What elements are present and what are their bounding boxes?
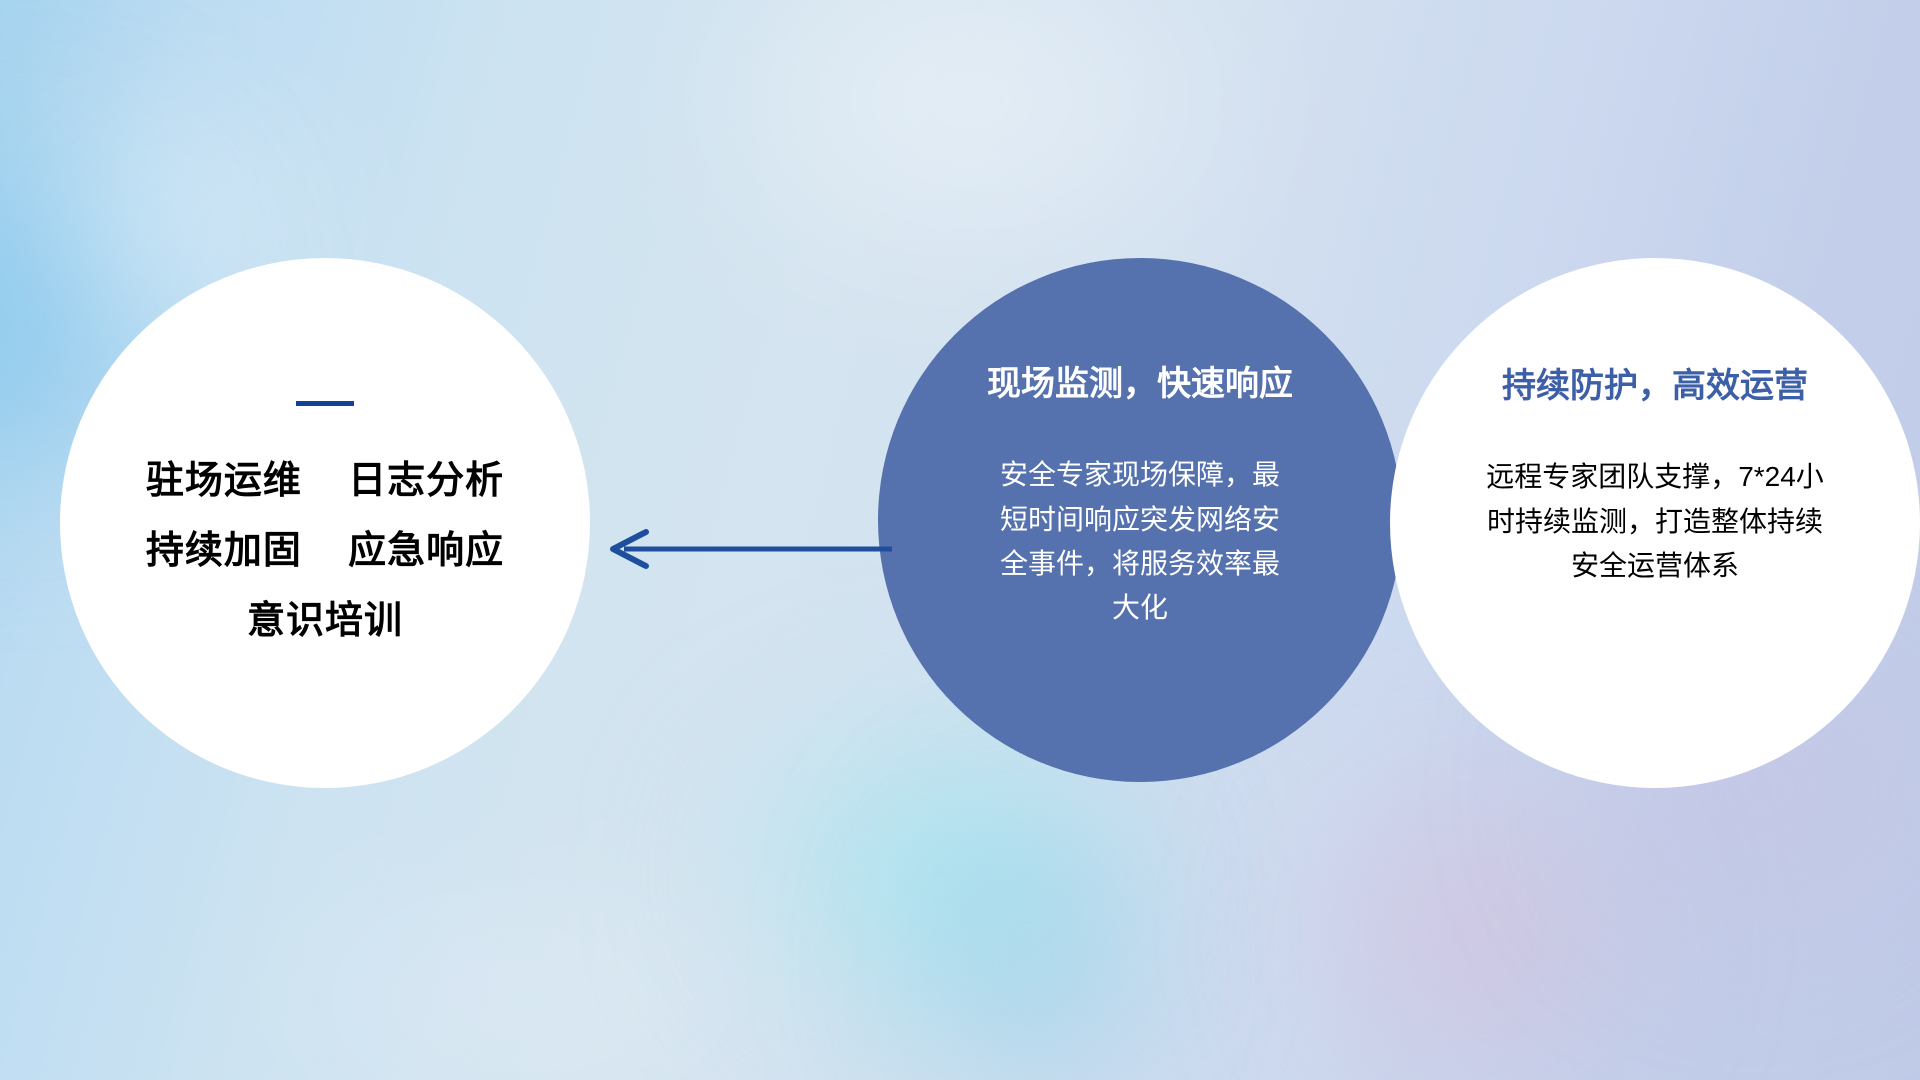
middle-circle-shape[interactable] [878,258,1402,782]
connector-arrow[interactable] [600,520,900,580]
accent-dash-divider [296,401,354,406]
right-circle-content: 持续防护，高效运营 远程专家团队支撑，7*24小时持续监测，打造整体持续安全运营… [1390,258,1920,788]
left-circle-keyword-list: 驻场运维 日志分析 持续加固 应急响应 意识培训 [146,462,504,640]
right-circle-title: 持续防护，高效运营 [1502,368,1808,405]
left-circle-content: 驻场运维 日志分析 持续加固 应急响应 意识培训 [60,258,590,788]
left-keyword-line-2: 持续加固 应急响应 [146,532,504,570]
left-keyword-line-3: 意识培训 [146,602,504,640]
slide-canvas: 驻场运维 日志分析 持续加固 应急响应 意识培训 现场监测，快速响应 安全专家现… [0,0,1920,1080]
arrow-left-icon [600,520,900,580]
right-circle-body: 远程专家团队支撑，7*24小时持续监测，打造整体持续安全运营体系 [1480,455,1830,588]
left-keyword-line-1: 驻场运维 日志分析 [146,462,504,500]
